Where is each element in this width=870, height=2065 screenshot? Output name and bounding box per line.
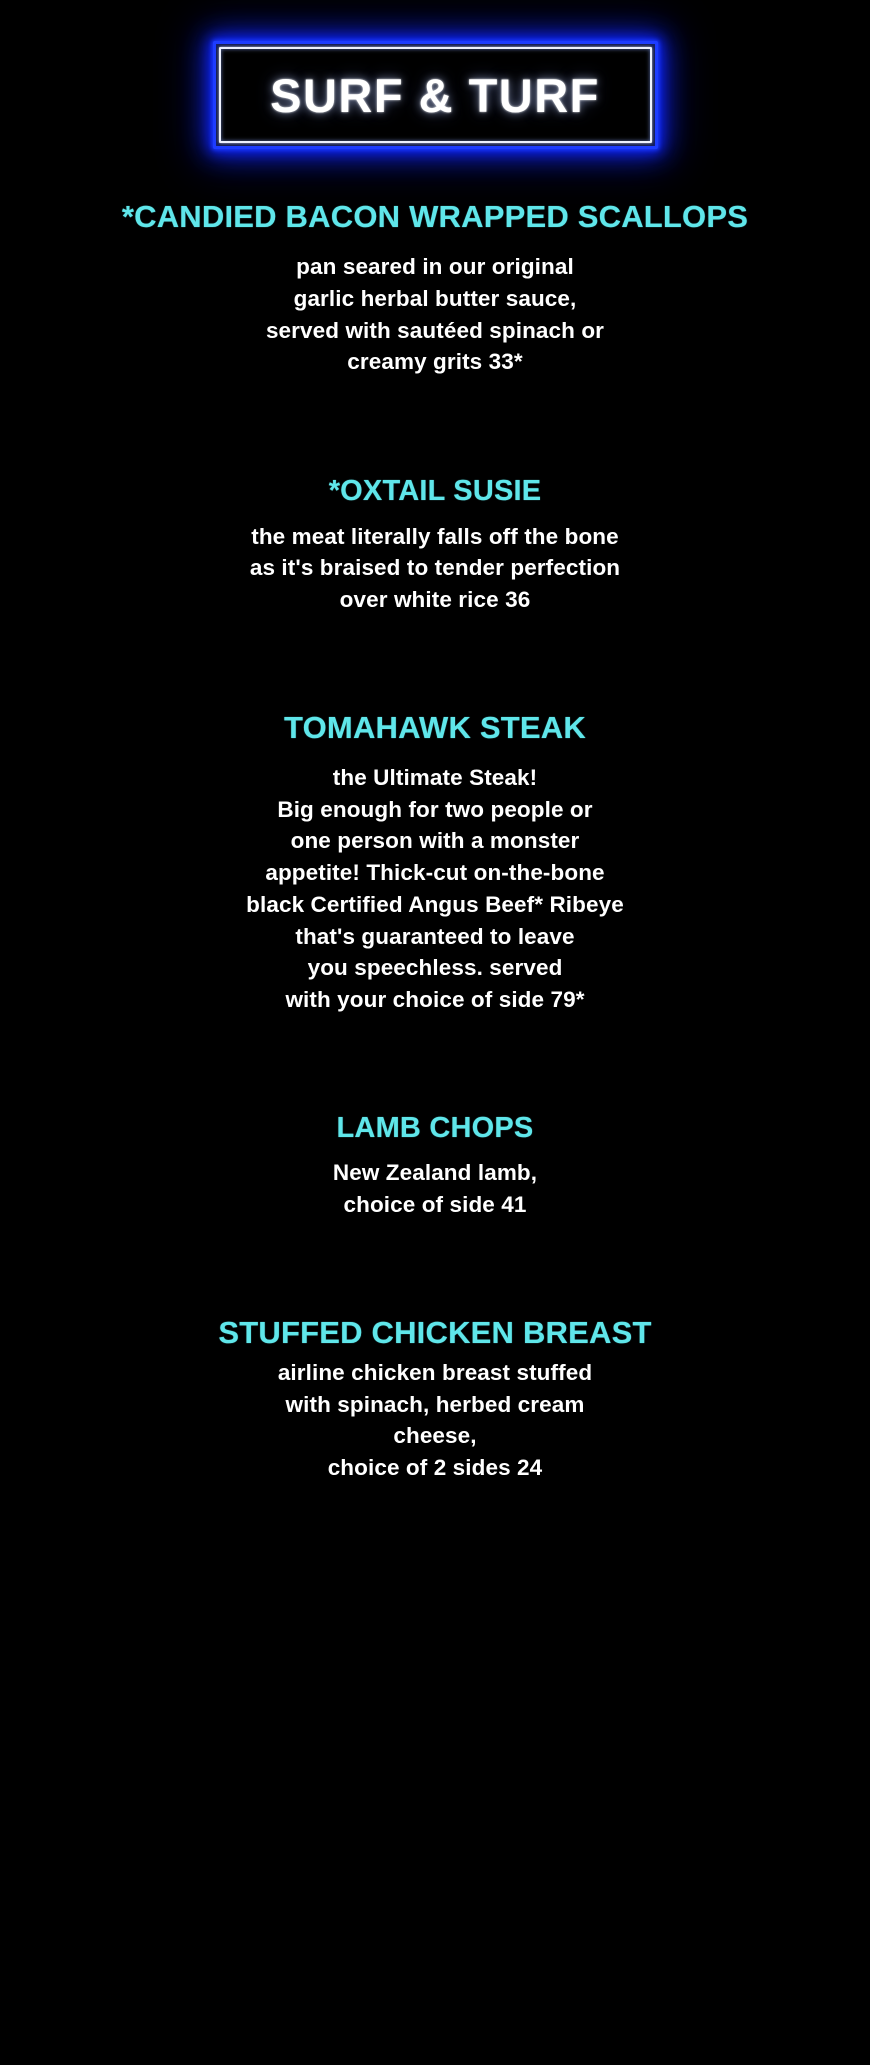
menu-item-description-line: the Ultimate Steak! [0, 762, 870, 794]
menu-item-name: *OXTAIL SUSIE [0, 472, 870, 511]
menu-item-description-line: New Zealand lamb, [0, 1157, 870, 1189]
menu-item-list: *CANDIED BACON WRAPPED SCALLOPS pan sear… [0, 190, 870, 1484]
menu-item-description-line: over white rice 36 [0, 584, 870, 616]
menu-item-description-line: that's guaranteed to leave [0, 921, 870, 953]
menu-item-description-line: airline chicken breast stuffed [0, 1357, 870, 1389]
neon-sign-frame: SURF & TURF [213, 41, 658, 149]
menu-item-description-line: one person with a monster [0, 825, 870, 857]
menu-item-name-line: *CANDIED BACON [122, 199, 400, 234]
menu-item-description: the meat literally falls off the bone as… [0, 521, 870, 616]
menu-item-name-line: WRAPPED SCALLOPS [409, 199, 748, 234]
menu-item-stuffed-chicken-breast: STUFFED CHICKEN BREAST airline chicken b… [0, 1221, 870, 1484]
menu-item-name-line: TOMAHAWK STEAK [284, 710, 586, 745]
menu-item-description-line: appetite! Thick-cut on-the-bone [0, 857, 870, 889]
menu-item-description-line: choice of 2 sides 24 [0, 1452, 870, 1484]
menu-item-description-line: with spinach, herbed cream [0, 1389, 870, 1421]
menu-item-tomahawk-steak: TOMAHAWK STEAK the Ultimate Steak! Big e… [0, 616, 870, 1016]
menu-item-description: New Zealand lamb, choice of side 41 [0, 1157, 870, 1220]
menu-item-description-line: choice of side 41 [0, 1189, 870, 1221]
menu-header: SURF & TURF [0, 0, 870, 190]
menu-item-name: *CANDIED BACON WRAPPED SCALLOPS [0, 196, 870, 237]
page-title: SURF & TURF [270, 72, 600, 119]
menu-item-name-line: LAMB CHOPS [337, 1112, 534, 1144]
menu-item-name-line: STUFFED CHICKEN [218, 1315, 514, 1350]
menu-item-lamb-chops: LAMB CHOPS New Zealand lamb, choice of s… [0, 1016, 870, 1221]
menu-item-description-line: creamy grits 33* [0, 346, 870, 378]
menu-item-description-line: black Certified Angus Beef* Ribeye [0, 889, 870, 921]
menu-item-description-line: you speechless. served [0, 952, 870, 984]
menu-item-description-line: served with sautéed spinach or [0, 315, 870, 347]
menu-item-description: airline chicken breast stuffed with spin… [0, 1357, 870, 1484]
menu-item-description-line: cheese, [0, 1420, 870, 1452]
menu-board: SURF & TURF *CANDIED BACON WRAPPED SCALL… [0, 0, 870, 2065]
menu-item-description-line: Big enough for two people or [0, 794, 870, 826]
menu-item-name: STUFFED CHICKEN BREAST [0, 1312, 870, 1353]
menu-item-name-line: BREAST [523, 1315, 652, 1350]
menu-item-oxtail-susie: *OXTAIL SUSIE the meat literally falls o… [0, 378, 870, 616]
menu-item-description: the Ultimate Steak! Big enough for two p… [0, 762, 870, 1016]
menu-item-description-line: garlic herbal butter sauce, [0, 283, 870, 315]
menu-item-description-line: the meat literally falls off the bone [0, 521, 870, 553]
menu-item-name-line: *OXTAIL SUSIE [329, 475, 542, 507]
menu-item-candied-bacon-wrapped-scallops: *CANDIED BACON WRAPPED SCALLOPS pan sear… [0, 190, 870, 378]
menu-item-description-line: pan seared in our original [0, 251, 870, 283]
menu-item-description-line: with your choice of side 79* [0, 984, 870, 1016]
menu-item-description: pan seared in our original garlic herbal… [0, 251, 870, 378]
menu-item-name: TOMAHAWK STEAK [0, 707, 870, 748]
menu-item-name: LAMB CHOPS [0, 1109, 870, 1148]
menu-item-description-line: as it's braised to tender perfection [0, 552, 870, 584]
